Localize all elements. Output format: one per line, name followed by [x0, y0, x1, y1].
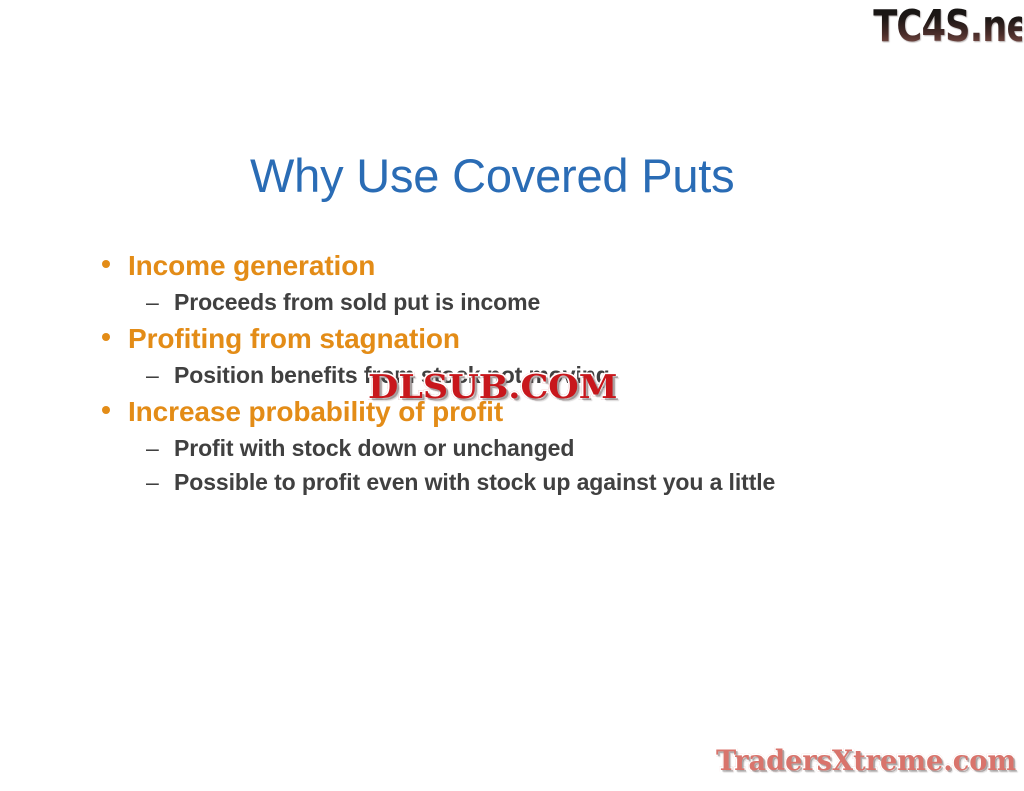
bullet-label: Proceeds from sold put is income	[174, 289, 540, 316]
bullet-item-level1: Income generation	[0, 250, 1024, 282]
bullet-label: Possible to profit even with stock up ag…	[174, 469, 775, 496]
dlsub-watermark-text: DLSUB.COM	[368, 367, 617, 406]
presentation-slide: TC4S.net Why Use Covered Puts Income gen…	[0, 0, 1024, 791]
bullet-label: Profit with stock down or unchanged	[174, 435, 574, 462]
tradersxtreme-footer-logo: TradersXtreme.com	[716, 744, 1016, 778]
bullet-item-level2: – Proceeds from sold put is income	[0, 289, 1024, 316]
bullet-marker-dot-icon	[98, 324, 128, 350]
bullet-marker-dash-icon: –	[146, 291, 174, 314]
bullet-marker-dot-icon	[98, 397, 128, 423]
bullet-marker-dash-icon: –	[146, 364, 174, 387]
tradersxtreme-footer-logo-text: TradersXtreme.com	[716, 744, 1016, 777]
tc4s-brand-logo: TC4S.net	[873, 2, 1022, 54]
bullet-marker-dash-icon: –	[146, 437, 174, 460]
bullet-item-level1: Profiting from stagnation	[0, 323, 1024, 355]
bullet-item-level2: – Possible to profit even with stock up …	[0, 469, 1024, 496]
dlsub-watermark: DLSUB.COM	[368, 368, 617, 406]
slide-title: Why Use Covered Puts	[250, 148, 734, 203]
bullet-marker-dot-icon	[98, 251, 128, 277]
bullet-marker-dash-icon: –	[146, 471, 174, 494]
bullet-label: Profiting from stagnation	[128, 323, 460, 355]
bullet-label: Income generation	[128, 250, 375, 282]
bullet-item-level2: – Profit with stock down or unchanged	[0, 435, 1024, 462]
